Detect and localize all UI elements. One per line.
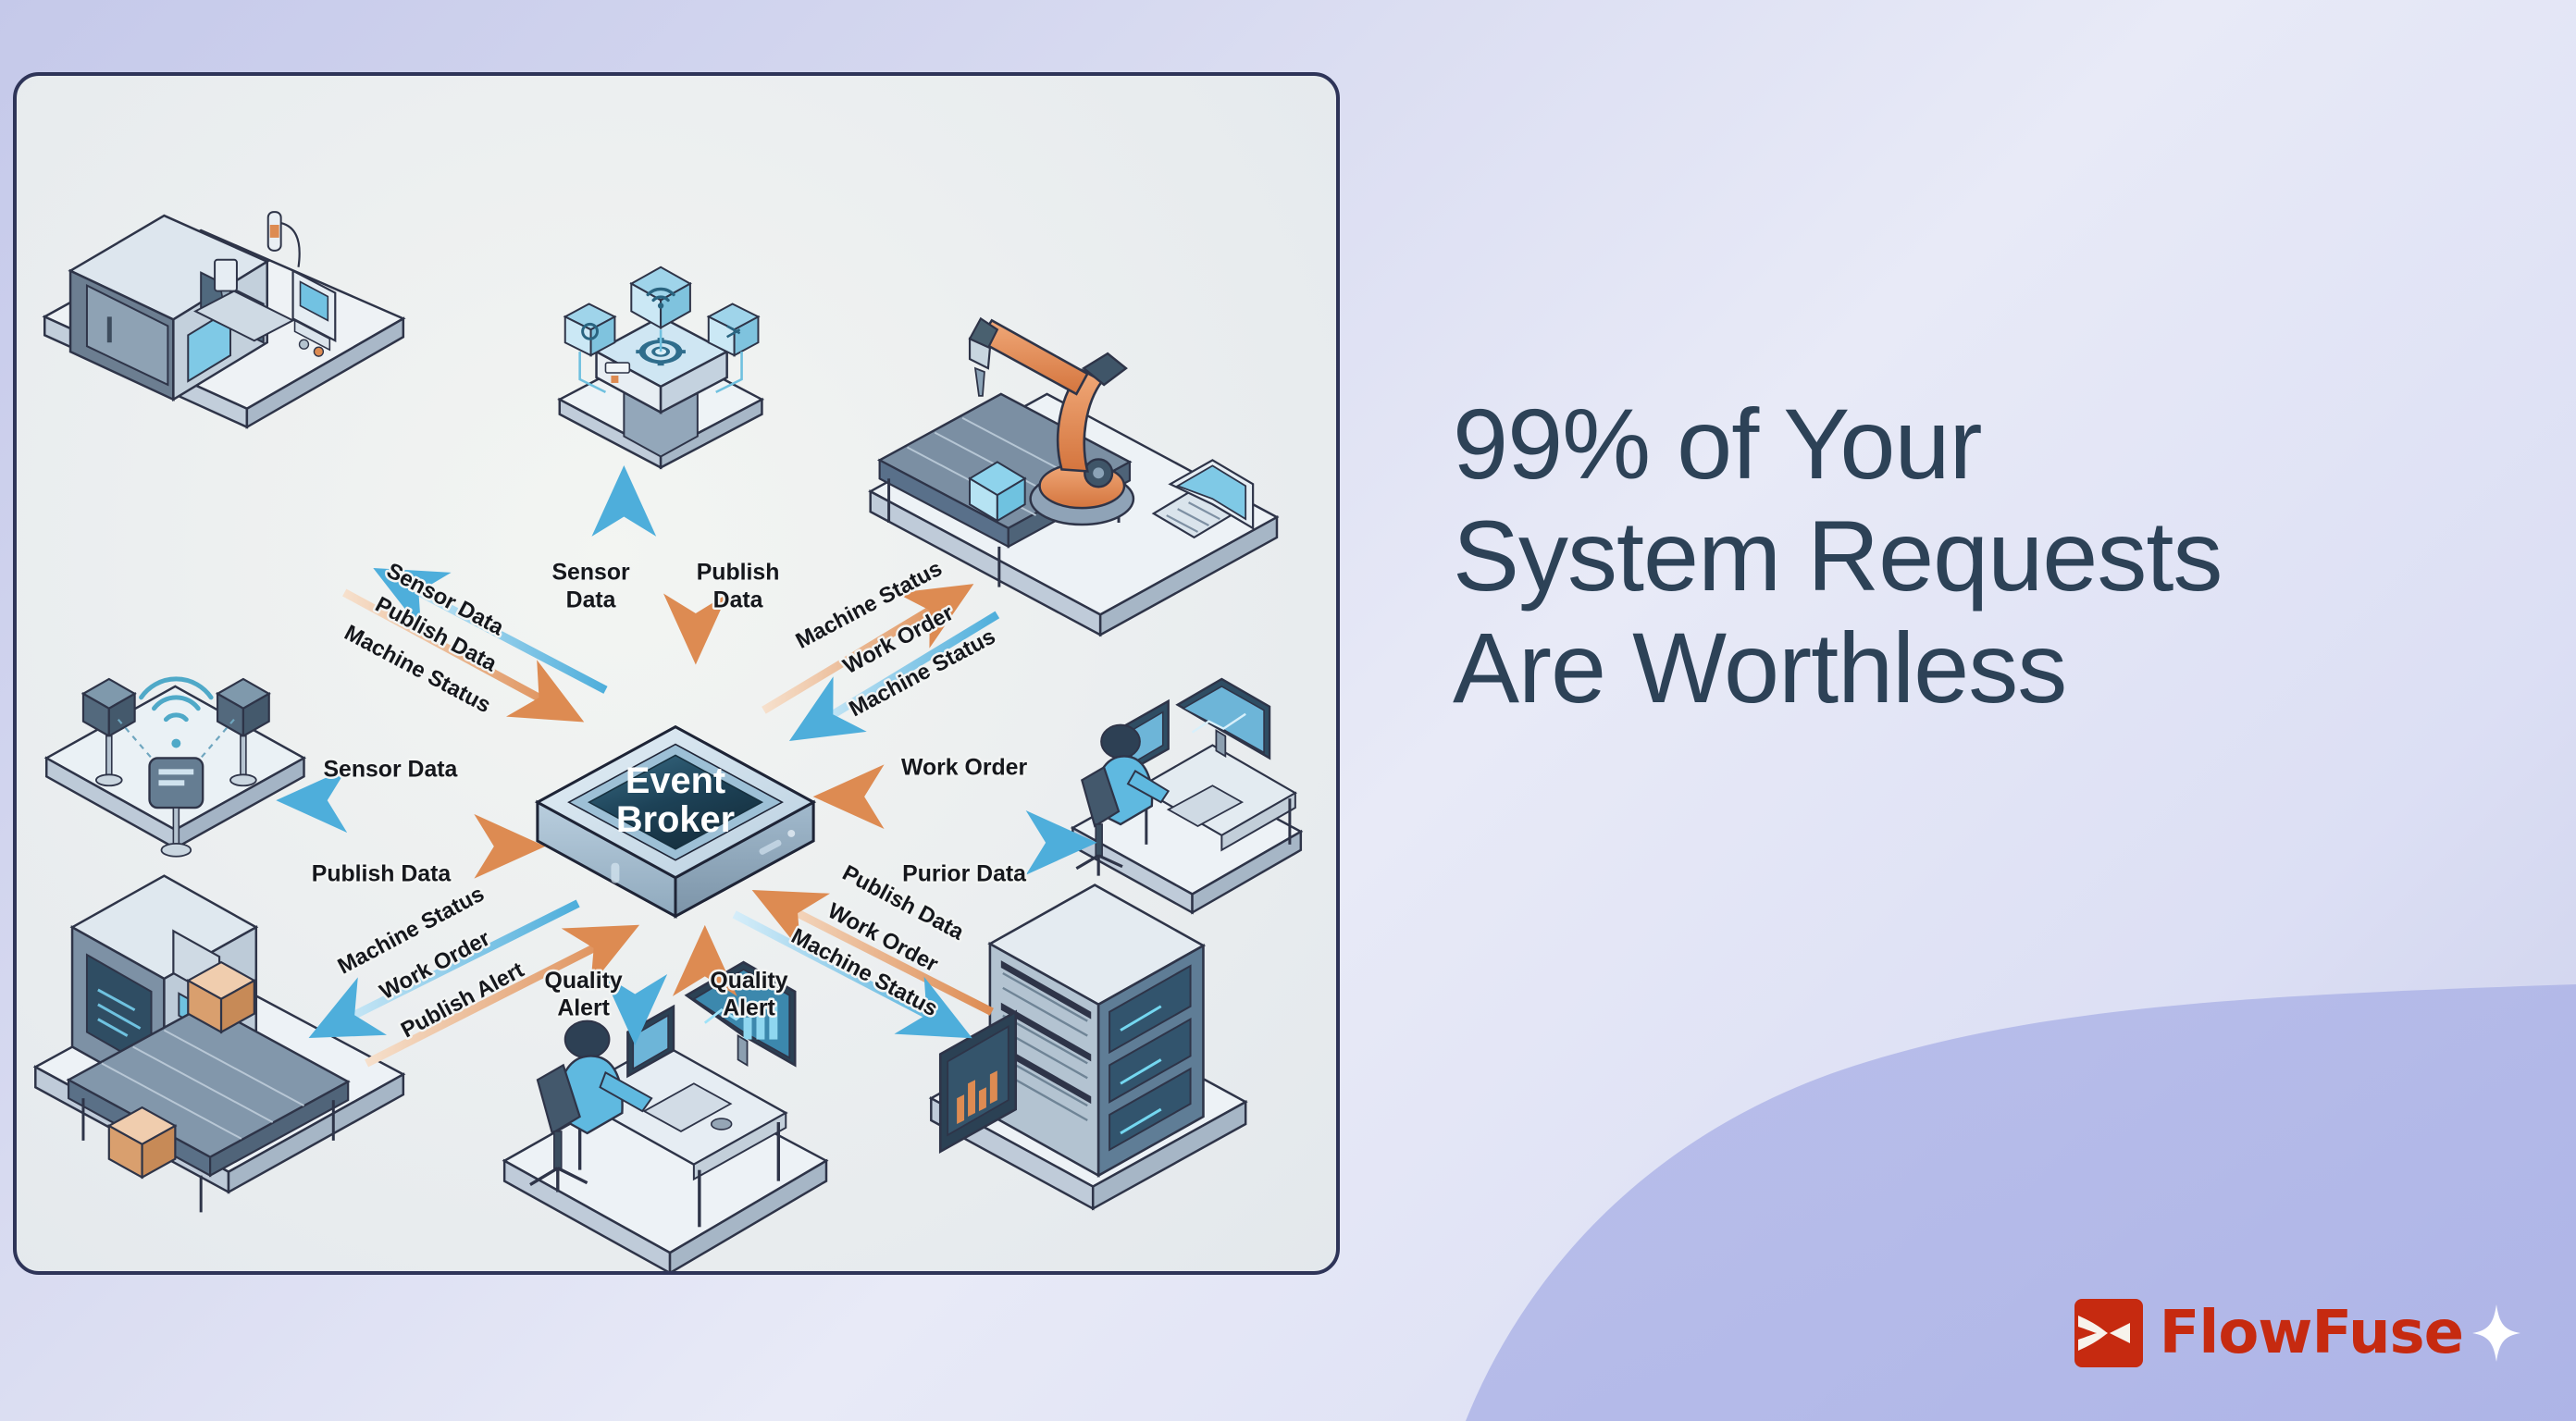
event-broker-node: Event Broker	[538, 727, 813, 917]
node-robot-arm	[871, 318, 1277, 635]
node-cnc-machine	[44, 212, 403, 427]
node-operator-desk	[504, 962, 826, 1271]
flow-label-publish-line1: Publish	[697, 561, 780, 586]
flow-label-mr-work-order: Work Order	[901, 755, 1027, 780]
flow-label-bc-quality2-line1: Quality	[710, 969, 787, 994]
flowfuse-logo-icon	[2074, 1299, 2143, 1367]
event-broker-label-line2: Broker	[616, 799, 735, 840]
node-iot-gateway	[560, 267, 762, 468]
arrow-group-engineer	[826, 797, 1084, 843]
node-wireless-sensors	[46, 679, 303, 857]
headline-line-1: 99% of Your	[1453, 389, 2545, 500]
event-broker-label-line1: Event	[625, 760, 725, 801]
node-packaging-conveyor	[35, 876, 403, 1213]
sparkle-icon	[2472, 1304, 2520, 1362]
architecture-diagram-card: Event Broker Sensor Data Publish Data Se…	[13, 72, 1340, 1275]
headline-block: 99% of Your System Requests Are Worthles…	[1453, 389, 2545, 724]
flow-label-sensor-line1: Sensor	[551, 561, 630, 586]
flowfuse-logo-lockup: FlowFuse	[2074, 1299, 2520, 1367]
node-engineer-desk	[1072, 679, 1300, 912]
arrow-group-gateway	[624, 471, 696, 661]
node-server-rack	[931, 885, 1245, 1209]
flow-label-mr-purior-data: Purior Data	[902, 862, 1026, 887]
gateway-icon-card-wifi	[631, 267, 690, 328]
flow-label-publish-line2: Data	[713, 587, 763, 612]
flowfuse-wordmark: FlowFuse	[2160, 1304, 2463, 1363]
headline-line-2: System Requests	[1453, 500, 2545, 612]
flow-label-bc-quality2-line2: Alert	[723, 996, 775, 1021]
flow-label-sensor-line2: Data	[566, 587, 616, 612]
flow-label-bc-quality-line2: Alert	[557, 996, 610, 1021]
flow-label-bc-quality-line1: Quality	[545, 969, 623, 994]
headline-line-3: Are Worthless	[1453, 612, 2545, 724]
flow-label-ml-publish-data: Publish Data	[312, 862, 452, 887]
flow-label-ml-sensor-data: Sensor Data	[323, 757, 457, 782]
arrow-group-sensors	[290, 800, 532, 846]
architecture-diagram: Event Broker Sensor Data Publish Data Se…	[17, 76, 1336, 1271]
